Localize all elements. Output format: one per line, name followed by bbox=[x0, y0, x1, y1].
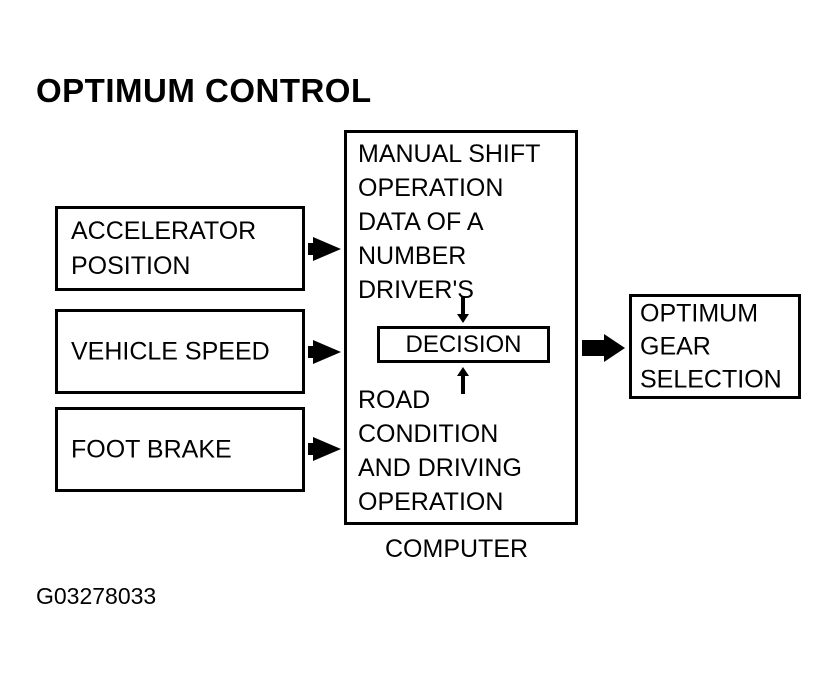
decision-box: DECISION bbox=[377, 326, 550, 363]
output-box-label: OPTIMUM GEAR SELECTION bbox=[640, 297, 782, 396]
input-box-accelerator-position-label: ACCELERATOR POSITION bbox=[71, 214, 256, 284]
arrow-right-icon-accelerator-to-computer bbox=[308, 234, 342, 264]
output-box-optimum-gear-selection: OPTIMUM GEAR SELECTION bbox=[629, 294, 801, 399]
input-box-accelerator-position: ACCELERATOR POSITION bbox=[55, 206, 305, 291]
arrow-right-icon-computer-to-output bbox=[582, 332, 626, 364]
input-box-foot-brake-label: FOOT BRAKE bbox=[71, 432, 232, 467]
computer-bottom-text: ROAD CONDITION AND DRIVING OPERATION bbox=[358, 383, 522, 519]
computer-caption: COMPUTER bbox=[385, 535, 528, 564]
input-box-foot-brake: FOOT BRAKE bbox=[55, 407, 305, 492]
diagram-canvas: OPTIMUM CONTROL ACCELERATOR POSITION VEH… bbox=[0, 0, 839, 681]
figure-id-label: G03278033 bbox=[36, 583, 156, 610]
computer-top-text: MANUAL SHIFT OPERATION DATA OF A NUMBER … bbox=[358, 137, 540, 307]
input-box-vehicle-speed: VEHICLE SPEED bbox=[55, 309, 305, 394]
arrow-right-icon-foot-brake-to-computer bbox=[308, 434, 342, 464]
arrow-right-icon-vehicle-speed-to-computer bbox=[308, 337, 342, 367]
arrow-up-icon-into-decision bbox=[455, 366, 471, 394]
arrow-down-icon-into-decision bbox=[455, 296, 471, 324]
input-box-vehicle-speed-label: VEHICLE SPEED bbox=[71, 334, 270, 369]
page-title: OPTIMUM CONTROL bbox=[36, 72, 372, 110]
decision-box-label: DECISION bbox=[380, 331, 547, 359]
